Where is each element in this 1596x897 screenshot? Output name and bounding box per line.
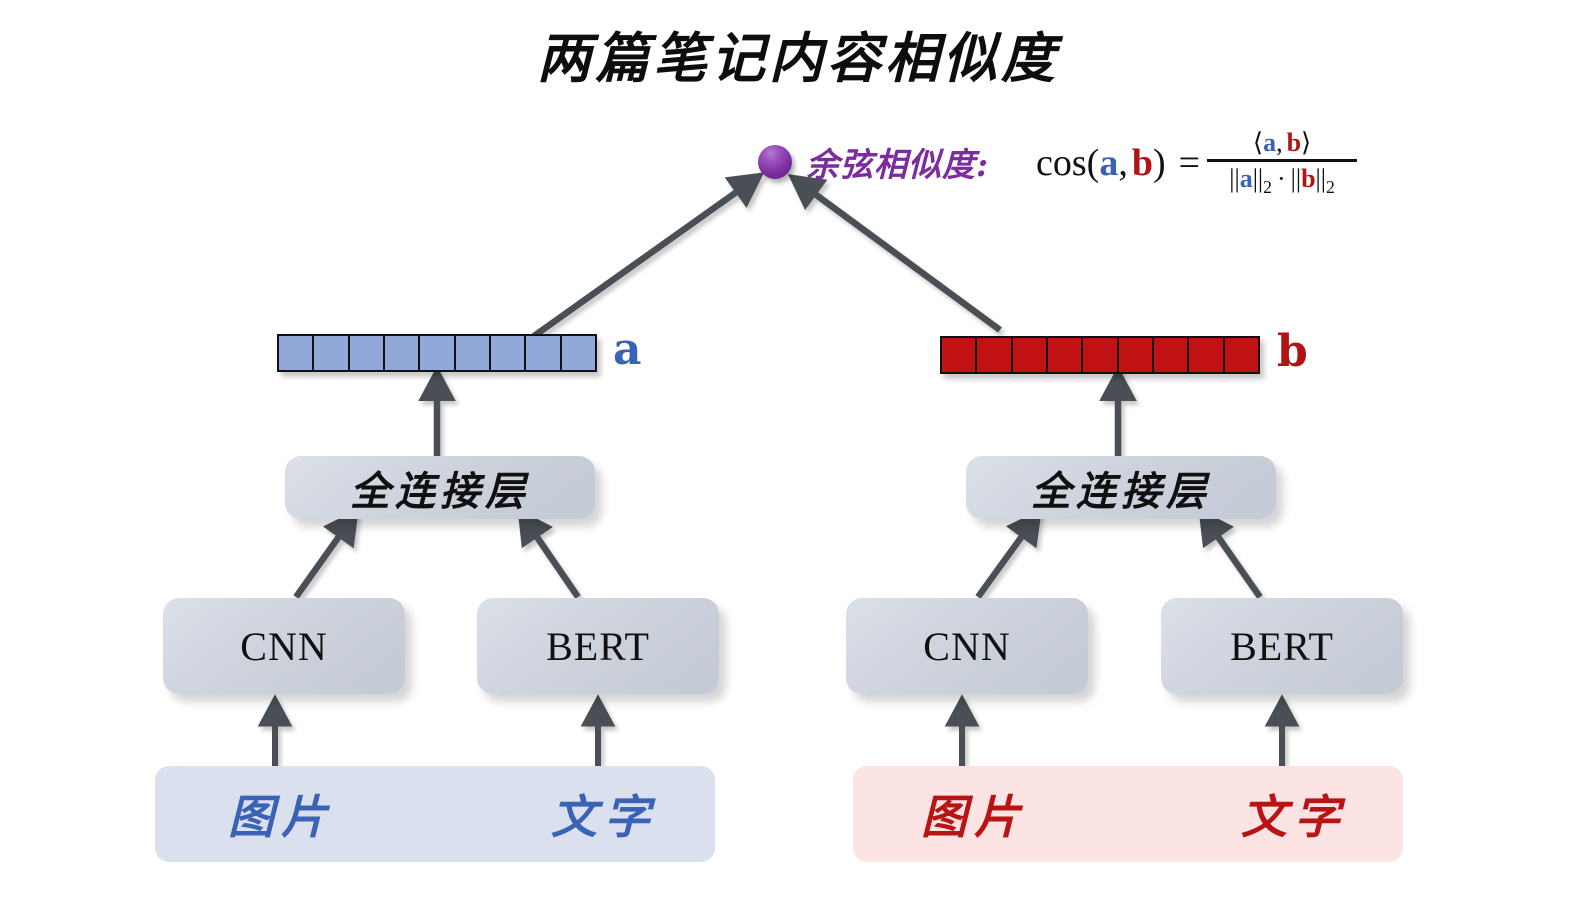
vector-cell — [942, 338, 977, 372]
numerator-b: b — [1287, 128, 1301, 157]
norm-a-close: || — [1253, 164, 1263, 193]
vector-cell — [279, 336, 314, 370]
vector-cell — [1083, 338, 1118, 372]
similarity-node[interactable] — [758, 145, 792, 179]
angle-close: ⟩ — [1301, 128, 1311, 157]
arrow-vector-b-to-similarity — [800, 183, 1000, 330]
vector-a-label: a — [613, 328, 642, 372]
arrow-cnn-to-fc-right — [978, 521, 1033, 597]
vector-cell — [385, 336, 420, 370]
formula-numerator: ⟨a,b⟩ — [1247, 130, 1317, 159]
vector-cell — [526, 336, 561, 370]
encoder-bert-left[interactable]: BERT — [477, 598, 719, 694]
encoder-cnn-right[interactable]: CNN — [846, 598, 1088, 694]
cosine-formula: cos( a , b ) = ⟨a,b⟩ ||a||2·||b||2 — [1036, 130, 1357, 196]
vector-cell — [456, 336, 491, 370]
angle-open: ⟨ — [1253, 128, 1263, 157]
diagram-canvas: 两篇笔记内容相似度 — [0, 0, 1596, 897]
input-text-left[interactable]: 文字 — [551, 781, 657, 847]
vector-cell — [1048, 338, 1083, 372]
fc-layer-right-label: 全连接层 — [1031, 459, 1211, 517]
vector-b[interactable] — [940, 336, 1260, 374]
vector-cell — [1154, 338, 1189, 372]
encoder-bert-right-label: BERT — [1230, 623, 1334, 670]
norm-a-subscript: 2 — [1263, 177, 1272, 197]
norm-a-open: || — [1229, 164, 1239, 193]
numerator-a: a — [1263, 128, 1276, 157]
numerator-comma: , — [1276, 128, 1283, 157]
formula-fraction: ⟨a,b⟩ ||a||2·||b||2 — [1207, 130, 1357, 196]
norm-b-open: || — [1291, 164, 1301, 193]
norm-b: b — [1301, 164, 1315, 193]
arrow-bert-to-fc-left — [526, 521, 578, 597]
vector-cell — [314, 336, 349, 370]
input-image-right[interactable]: 图片 — [921, 781, 1027, 847]
vector-b-label: b — [1277, 330, 1308, 374]
vector-cell — [491, 336, 526, 370]
encoder-bert-right[interactable]: BERT — [1161, 598, 1403, 694]
vector-cell — [1119, 338, 1154, 372]
formula-equals: = — [1179, 141, 1200, 185]
norm-dot: · — [1277, 164, 1286, 193]
fc-layer-right[interactable]: 全连接层 — [966, 456, 1276, 519]
cosine-similarity-label: 余弦相似度: — [806, 138, 989, 186]
input-panel-right[interactable]: 图片 文字 — [853, 766, 1403, 862]
encoder-bert-left-label: BERT — [546, 623, 650, 670]
encoder-cnn-left[interactable]: CNN — [163, 598, 405, 694]
arrow-bert-to-fc-right — [1207, 521, 1260, 597]
norm-b-close: || — [1316, 164, 1326, 193]
vector-cell — [977, 338, 1012, 372]
formula-lhs-close: ) — [1153, 141, 1166, 185]
vector-cell — [1013, 338, 1048, 372]
fc-layer-left[interactable]: 全连接层 — [285, 456, 595, 519]
input-panel-left[interactable]: 图片 文字 — [155, 766, 715, 862]
formula-arg-a: a — [1099, 141, 1118, 185]
vector-cell — [350, 336, 385, 370]
page-title: 两篇笔记内容相似度 — [0, 14, 1596, 93]
norm-b-subscript: 2 — [1326, 177, 1335, 197]
arrow-cnn-to-fc-left — [296, 521, 350, 597]
vector-cell — [1189, 338, 1224, 372]
vector-cell — [420, 336, 455, 370]
formula-lhs-open: cos( — [1036, 141, 1099, 185]
norm-a: a — [1240, 164, 1253, 193]
fc-layer-left-label: 全连接层 — [350, 459, 530, 517]
vector-a[interactable] — [277, 334, 597, 372]
encoder-cnn-left-label: CNN — [240, 623, 327, 670]
vector-cell — [562, 336, 595, 370]
encoder-cnn-right-label: CNN — [923, 623, 1010, 670]
formula-comma: , — [1118, 141, 1128, 185]
vector-cell — [1225, 338, 1258, 372]
input-image-left[interactable]: 图片 — [228, 781, 334, 847]
formula-arg-b: b — [1132, 141, 1153, 185]
input-text-right[interactable]: 文字 — [1241, 781, 1347, 847]
formula-denominator: ||a||2·||b||2 — [1223, 162, 1341, 197]
arrow-vector-a-to-similarity — [534, 181, 752, 336]
